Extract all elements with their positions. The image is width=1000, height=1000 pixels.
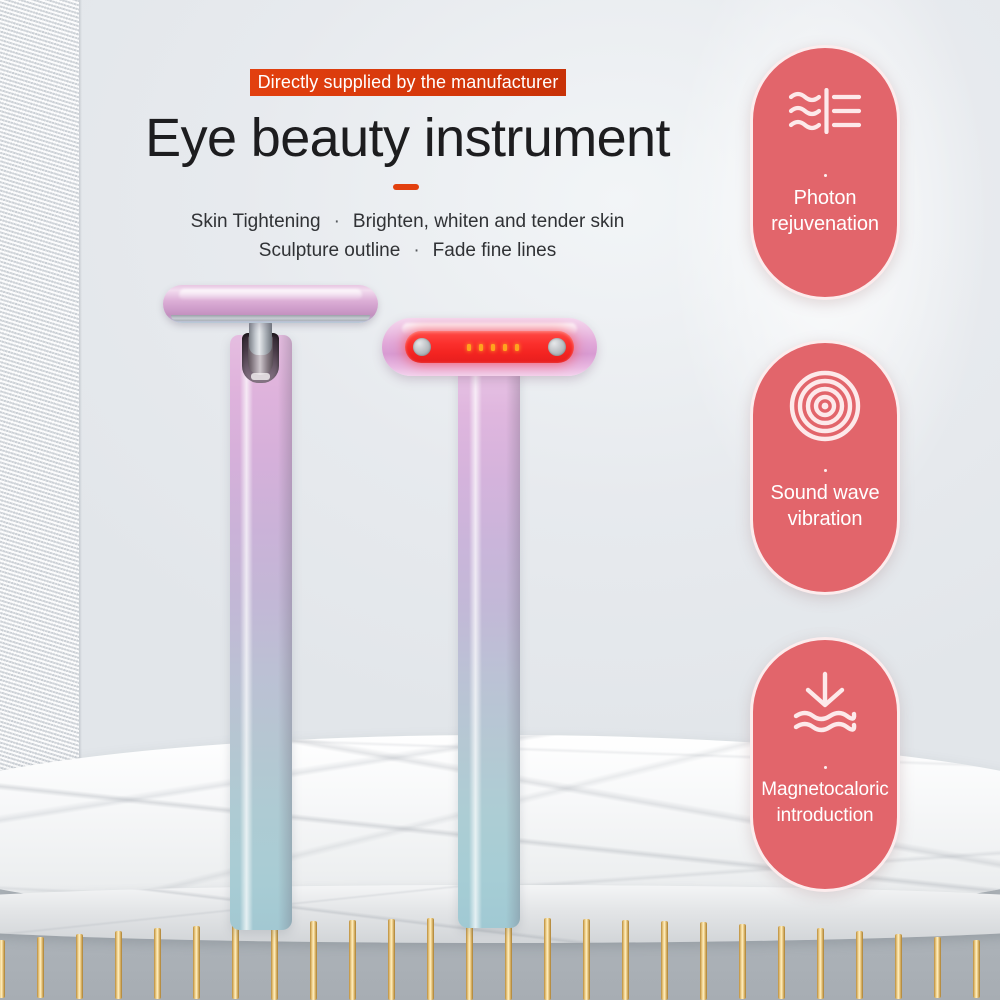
wand-a-pin-tip xyxy=(251,373,270,380)
product-marketing-banner: Directly supplied by the manufacturer Ey… xyxy=(0,0,1000,1000)
feature-badge-magnetocaloric-introduction[interactable]: Magnetocaloric introduction xyxy=(750,637,900,892)
wand-b-handle-highlight xyxy=(469,370,482,928)
wand-b-led-dot xyxy=(467,344,471,351)
gold-table-leg xyxy=(232,924,239,1000)
gold-table-leg xyxy=(37,937,44,999)
subtitle-1-left: Skin Tightening xyxy=(191,211,321,232)
wand-b-led-dot xyxy=(479,344,483,351)
subtitle-line-2: Sculpture outline·Fade fine lines xyxy=(0,240,815,262)
gold-table-leg xyxy=(76,934,83,999)
gold-table-leg xyxy=(505,918,512,1000)
badge-2-dot xyxy=(824,469,827,472)
gold-table-legs xyxy=(0,918,1000,1000)
gold-table-leg xyxy=(115,931,122,999)
feature-badge-2-label-line1: Sound wave xyxy=(752,480,898,506)
manufacturer-banner: Directly supplied by the manufacturer xyxy=(250,69,566,96)
gold-table-leg xyxy=(934,937,941,999)
title-accent-dash xyxy=(393,184,419,190)
wand-b-handle xyxy=(458,370,520,928)
gold-table-leg xyxy=(622,920,629,1000)
photon-waves-lines-icon xyxy=(786,76,864,146)
wand-a-head-gloss xyxy=(179,289,362,300)
page-title: Eye beauty instrument xyxy=(0,105,815,171)
wand-a-t-head xyxy=(163,285,378,323)
wand-b-head xyxy=(382,318,597,376)
gold-table-leg xyxy=(154,928,161,999)
gold-table-leg xyxy=(0,940,5,998)
subtitle-1-right: Brighten, whiten and tender skin xyxy=(353,211,624,232)
gold-table-leg xyxy=(271,922,278,999)
gold-table-leg xyxy=(817,928,824,999)
feature-badge-1-label-line1: Photon xyxy=(752,185,898,211)
wand-a-head-metal-plate xyxy=(171,315,370,321)
product-t-head-eye-wand xyxy=(163,285,378,930)
badge-3-dot xyxy=(824,766,827,769)
wand-b-electrode-right xyxy=(548,338,566,356)
wand-b-led-dot xyxy=(515,344,519,351)
wand-b-led-panel xyxy=(405,331,574,363)
gold-table-leg xyxy=(739,924,746,1000)
subtitle-2-right: Fade fine lines xyxy=(433,240,557,261)
gold-table-leg xyxy=(388,919,395,1000)
gold-table-leg xyxy=(466,918,473,1000)
gold-table-leg xyxy=(778,926,785,999)
badge-1-dot xyxy=(824,174,827,177)
wand-a-handle xyxy=(230,335,292,930)
wand-b-led-dot xyxy=(503,344,507,351)
subtitle-line-1: Skin Tightening·Brighten, whiten and ten… xyxy=(0,211,815,233)
gold-table-leg xyxy=(193,926,200,999)
feature-badge-3-label-line1: Magnetocaloric xyxy=(752,777,898,803)
feature-badge-3-label-line2: introduction xyxy=(752,803,898,829)
gold-table-leg xyxy=(349,920,356,1000)
gold-table-leg xyxy=(856,931,863,999)
subtitle-2-left: Sculpture outline xyxy=(259,240,401,261)
gold-table-leg xyxy=(544,918,551,1000)
product-led-light-therapy-wand xyxy=(382,318,597,930)
concentric-rings-icon xyxy=(786,371,864,441)
down-arrow-waves-icon xyxy=(786,668,864,738)
gold-table-leg xyxy=(310,921,317,1000)
subtitle-1-separator: · xyxy=(334,211,340,233)
gold-table-leg xyxy=(661,921,668,1000)
wand-a-metal-stem xyxy=(249,319,272,355)
feature-badge-2-label-line2: vibration xyxy=(752,506,898,532)
feature-badge-1-label: Photon rejuvenation xyxy=(752,185,898,237)
feature-badge-sound-wave-vibration[interactable]: Sound wave vibration xyxy=(750,340,900,595)
wand-b-handle-shadow xyxy=(506,370,520,928)
subtitle-2-separator: · xyxy=(413,240,419,262)
wand-b-led-dot xyxy=(491,344,495,351)
gold-table-leg xyxy=(973,940,980,998)
wand-b-electrode-left xyxy=(413,338,431,356)
feature-badge-2-label: Sound wave vibration xyxy=(752,480,898,532)
feature-badge-photon-rejuvenation[interactable]: Photon rejuvenation xyxy=(750,45,900,300)
wand-a-handle-shadow xyxy=(278,335,292,930)
gold-table-leg xyxy=(895,934,902,999)
wand-a-handle-highlight xyxy=(240,335,253,930)
gold-table-leg xyxy=(427,918,434,1000)
gold-table-leg xyxy=(583,919,590,1000)
gold-table-leg xyxy=(700,922,707,999)
feature-badge-3-label: Magnetocaloric introduction xyxy=(752,777,898,829)
feature-badge-1-label-line2: rejuvenation xyxy=(752,211,898,237)
